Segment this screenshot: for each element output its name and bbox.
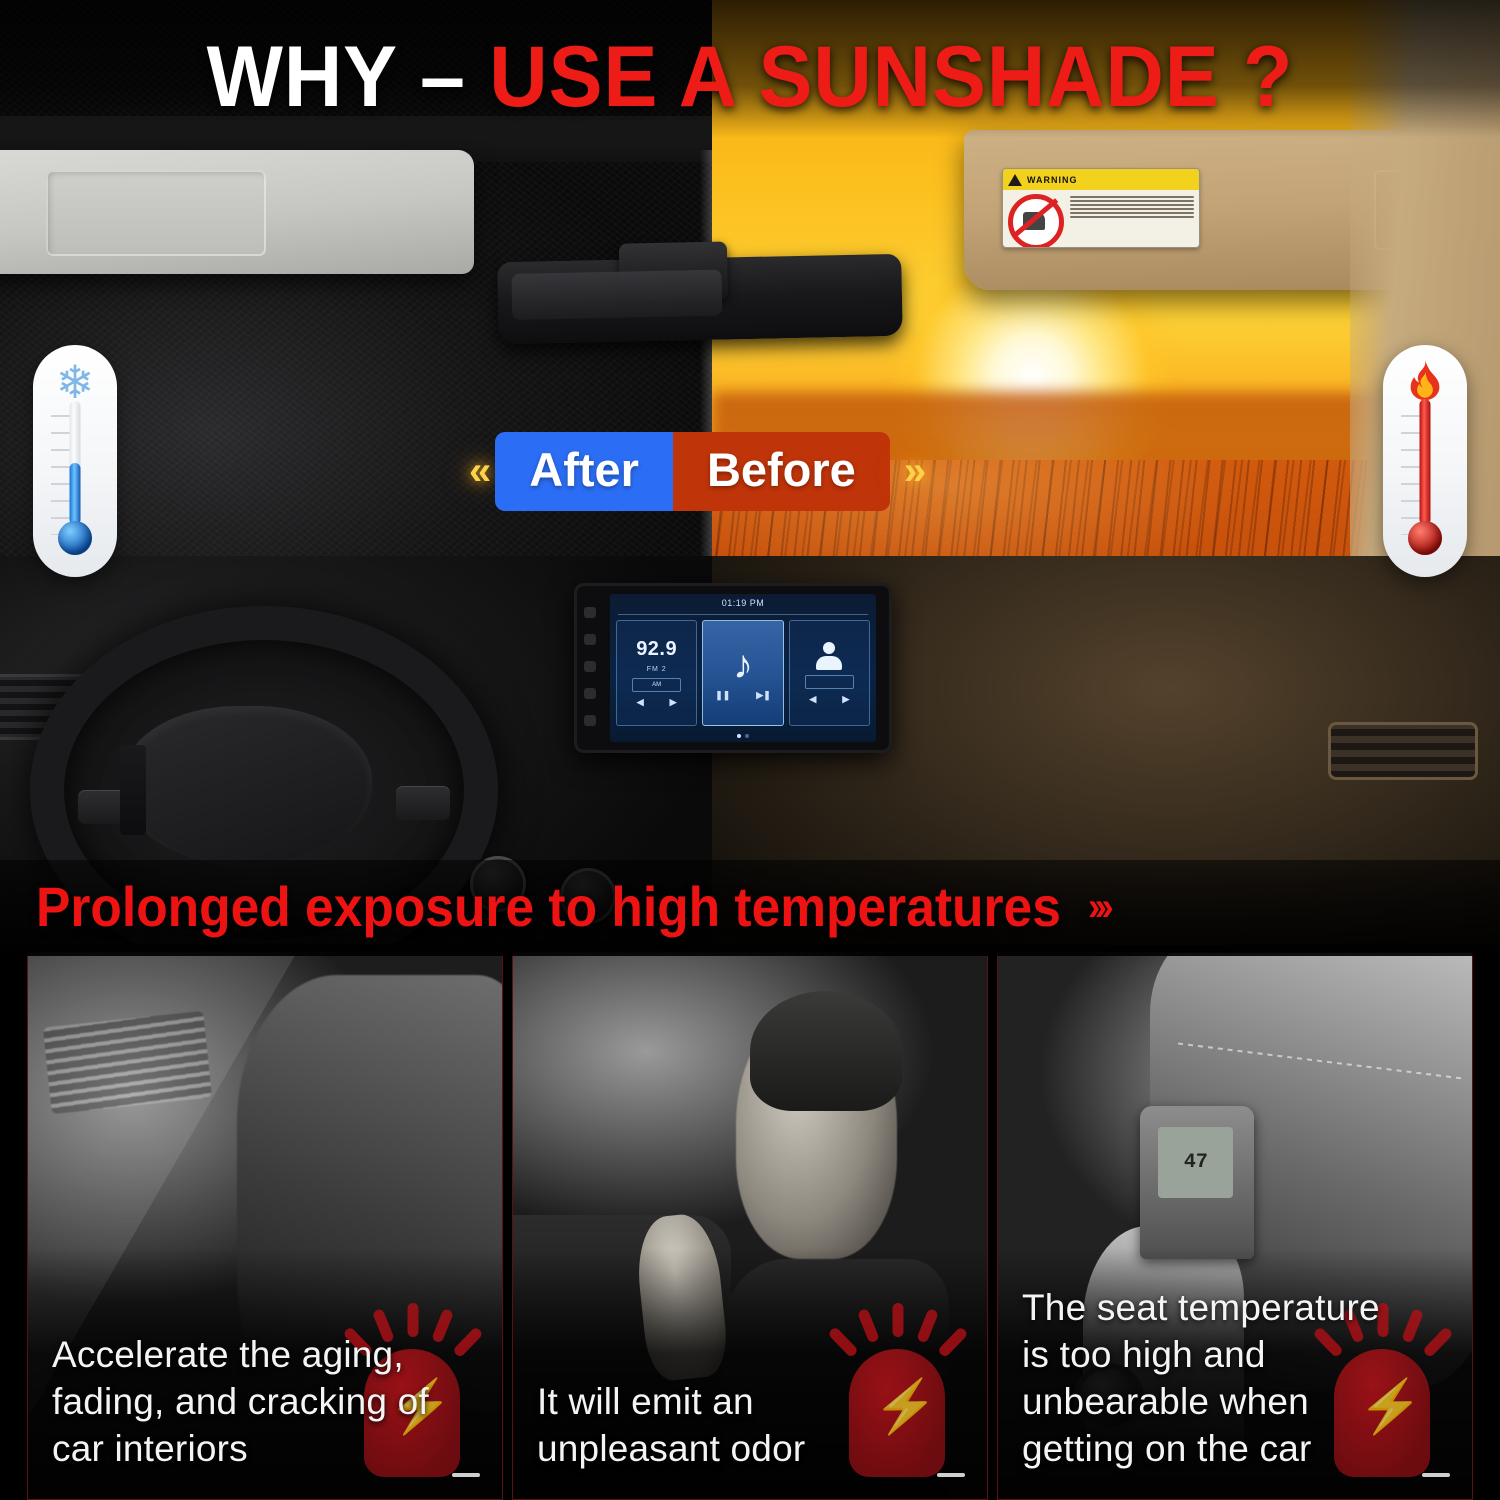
warning-body [1003, 190, 1199, 248]
thermometer-bulb-cold [58, 521, 92, 555]
radio-band: FM 2 [647, 666, 667, 673]
head-unit-divider [618, 614, 868, 615]
sun-visor-left [0, 150, 474, 274]
head-unit-tiles[interactable]: 92.9 FM 2 AM ◀ ▶ ♪ ❚❚ ▶❚ [616, 620, 870, 726]
panel-odor: ⚡ It will emit an unpleasant odor [512, 952, 988, 1500]
person-icon [816, 642, 842, 670]
media-tile[interactable]: ♪ ❚❚ ▶❚ [702, 620, 783, 726]
thermometer-cold: ❄ [33, 345, 117, 577]
before-badge[interactable]: Before [673, 432, 890, 511]
no-child-seat-icon [1008, 194, 1064, 248]
chevron-right-icon: » [890, 449, 930, 494]
hu-button-power[interactable] [584, 607, 596, 618]
subheadline: Prolonged exposure to high temperatures … [36, 874, 1108, 939]
air-vent-right [1328, 722, 1478, 780]
benefit-panels: ⚡ Accelerate the aging, fading, and crac… [0, 952, 1500, 1500]
mirror-glass [511, 270, 722, 320]
caption-dash [937, 1473, 965, 1477]
radio-tile[interactable]: 92.9 FM 2 AM ◀ ▶ [616, 620, 697, 726]
headline-red: USE A SUNSHADE ? [489, 29, 1293, 125]
profile-pill[interactable] [805, 675, 855, 689]
radio-prev-icon[interactable]: ◀ [637, 697, 644, 708]
radio-next-icon[interactable]: ▶ [670, 697, 677, 708]
thermometer-reading: 47 [1158, 1127, 1233, 1197]
radio-frequency: 92.9 [636, 638, 677, 661]
hu-button-eject[interactable] [584, 715, 596, 726]
hu-button-home[interactable] [584, 634, 596, 645]
chevron-left-icon: « [455, 449, 495, 494]
infotainment-head-unit[interactable]: 01:19 PM 92.9 FM 2 AM ◀ ▶ ♪ [574, 583, 892, 753]
snowflake-icon: ❄ [56, 359, 95, 405]
after-badge[interactable]: After [495, 432, 673, 511]
music-note-icon: ♪ [733, 645, 753, 685]
rear-view-mirror [497, 254, 903, 344]
before-after-badges: « After Before » [455, 432, 930, 511]
profile-tile[interactable]: ◀ ▶ [789, 620, 870, 726]
thermometer-bulb-hot [1408, 521, 1442, 555]
page-indicator-dots[interactable] [610, 734, 876, 738]
panel-aging: ⚡ Accelerate the aging, fading, and crac… [27, 952, 503, 1500]
hu-button-media[interactable] [584, 688, 596, 699]
thermometer-fill-hot [1420, 399, 1431, 525]
hero-comparison-section: WARNING [0, 0, 1500, 945]
warning-triangle-icon [1008, 174, 1022, 186]
head-unit-mount [120, 745, 146, 835]
infrared-thermometer-gun: 47 [1140, 1106, 1254, 1259]
warning-title: WARNING [1027, 175, 1078, 185]
caption-dash [1422, 1473, 1450, 1477]
profile-prev-icon[interactable]: ◀ [809, 694, 816, 705]
panel-caption: Accelerate the aging, fading, and cracki… [52, 1332, 442, 1473]
caption-dash [452, 1473, 480, 1477]
radio-preset[interactable]: AM [632, 678, 682, 692]
thermometer-hot [1383, 345, 1467, 577]
subheadline-text: Prolonged exposure to high temperatures [36, 875, 1061, 938]
visor-warning-label: WARNING [1002, 168, 1200, 248]
man-hair-shape [750, 991, 902, 1111]
profile-controls[interactable]: ◀ ▶ [809, 694, 849, 705]
panel-caption: It will emit an unpleasant odor [537, 1379, 927, 1473]
panel-seat-temp: 47 ⚡ The seat temperature is too high an… [997, 952, 1473, 1500]
profile-next-icon[interactable]: ▶ [842, 694, 849, 705]
warning-header: WARNING [1003, 169, 1199, 190]
radio-tuning-controls[interactable]: ◀ ▶ [637, 697, 677, 708]
wheel-button-right [396, 786, 450, 820]
hu-button-volume[interactable] [584, 661, 596, 672]
warning-text-lines [1070, 194, 1194, 248]
subheadline-chevrons-icon: ››› [1075, 885, 1108, 929]
head-unit-clock: 01:19 PM [610, 598, 876, 608]
media-controls[interactable]: ❚❚ ▶❚ [715, 690, 771, 701]
media-skip-icon[interactable]: ▶❚ [756, 690, 770, 701]
thermometer-fill-cold [70, 463, 81, 525]
headline-white: WHY – [207, 29, 466, 125]
head-unit-side-buttons[interactable] [584, 607, 596, 726]
head-unit-screen[interactable]: 01:19 PM 92.9 FM 2 AM ◀ ▶ ♪ [610, 594, 876, 742]
media-pause-icon[interactable]: ❚❚ [715, 690, 730, 701]
page-title: WHY – USE A SUNSHADE ? [45, 34, 1455, 120]
product-infographic: WARNING [0, 0, 1500, 1500]
panel-caption: The seat temperature is too high and unb… [1022, 1285, 1412, 1473]
